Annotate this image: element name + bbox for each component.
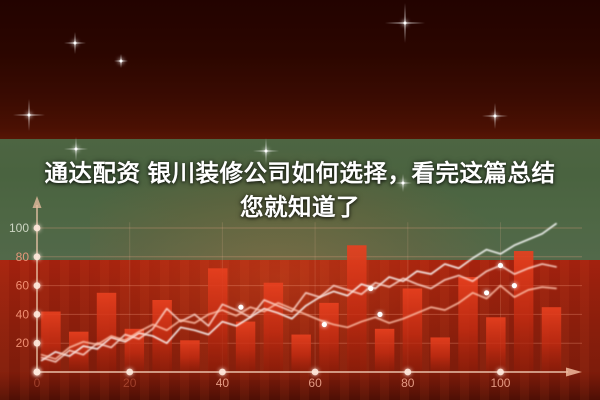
chart-bar [486,317,505,372]
y-axis-tick-label: 40 [16,307,30,321]
y-axis-tick-node [34,225,41,232]
chart-bar [514,251,533,372]
x-axis-tick-node [34,369,41,376]
chart-data-point [512,283,517,288]
stock-chart: 20406080100020406080100 [0,0,600,400]
x-axis-tick-node [219,369,226,376]
x-axis-tick-label: 0 [34,376,41,390]
chart-bar [347,245,366,372]
chart-data-point [368,286,373,291]
y-axis-tick-label: 100 [9,221,29,235]
y-axis-tick-label: 20 [16,336,30,350]
y-axis-tick-node [34,340,41,347]
chart-bar [291,335,310,372]
promo-banner: 20406080100020406080100 通达配资 银川装修公司如何选择，… [0,0,600,400]
chart-bar [375,329,394,372]
chart-bar [97,293,116,372]
chart-bar [458,277,477,372]
y-axis-tick-label: 60 [16,279,30,293]
chart-data-point [377,312,382,317]
x-axis-tick-label: 60 [308,376,322,390]
chart-data-point [238,305,243,310]
y-axis-arrow-icon [33,196,42,208]
y-axis-tick-node [34,253,41,260]
chart-bar [180,340,199,372]
chart-bars [41,245,561,372]
x-axis-tick-label: 20 [123,376,137,390]
chart-data-point [498,263,503,268]
chart-bar [208,268,227,372]
x-axis-arrow-icon [566,368,582,377]
x-axis-tick-node [404,369,411,376]
y-axis-tick-label: 80 [16,250,30,264]
x-axis-tick-label: 100 [490,376,510,390]
x-axis-tick-label: 40 [216,376,230,390]
chart-bar [542,307,561,372]
chart-bar [319,303,338,372]
chart-bar [236,322,255,372]
chart-data-point [322,322,327,327]
chart-bar [403,288,422,372]
chart-data-point [484,290,489,295]
y-axis-tick-node [34,282,41,289]
x-axis-tick-label: 80 [401,376,415,390]
chart-bar [41,312,60,372]
y-axis-tick-node [34,311,41,318]
chart-bar [264,283,283,372]
chart-bar [430,337,449,372]
x-axis-tick-node [126,369,133,376]
x-axis-tick-node [312,369,319,376]
x-axis-tick-node [497,369,504,376]
